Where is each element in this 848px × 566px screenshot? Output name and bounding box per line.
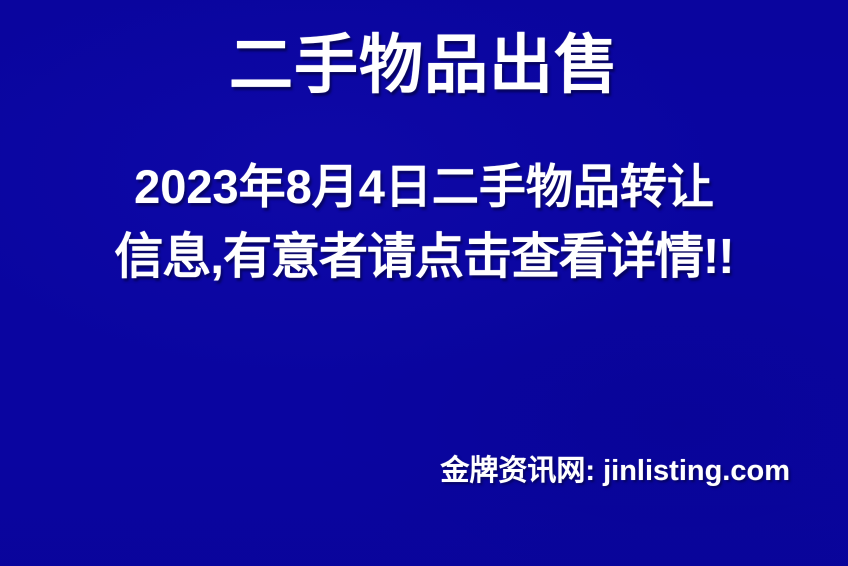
body-line-2: 信息,有意者请点击查看详情!! [0,222,848,292]
site-attribution: 金牌资讯网: jinlisting.com [440,452,790,490]
poster-title: 二手物品出售 [0,26,848,104]
poster-canvas: 二手物品出售 2023年8月4日二手物品转让 信息,有意者请点击查看详情!! 金… [0,0,848,566]
poster-body: 2023年8月4日二手物品转让 信息,有意者请点击查看详情!! [0,152,848,292]
poster-content: 二手物品出售 2023年8月4日二手物品转让 信息,有意者请点击查看详情!! 金… [0,0,848,566]
body-line-1: 2023年8月4日二手物品转让 [0,152,848,222]
